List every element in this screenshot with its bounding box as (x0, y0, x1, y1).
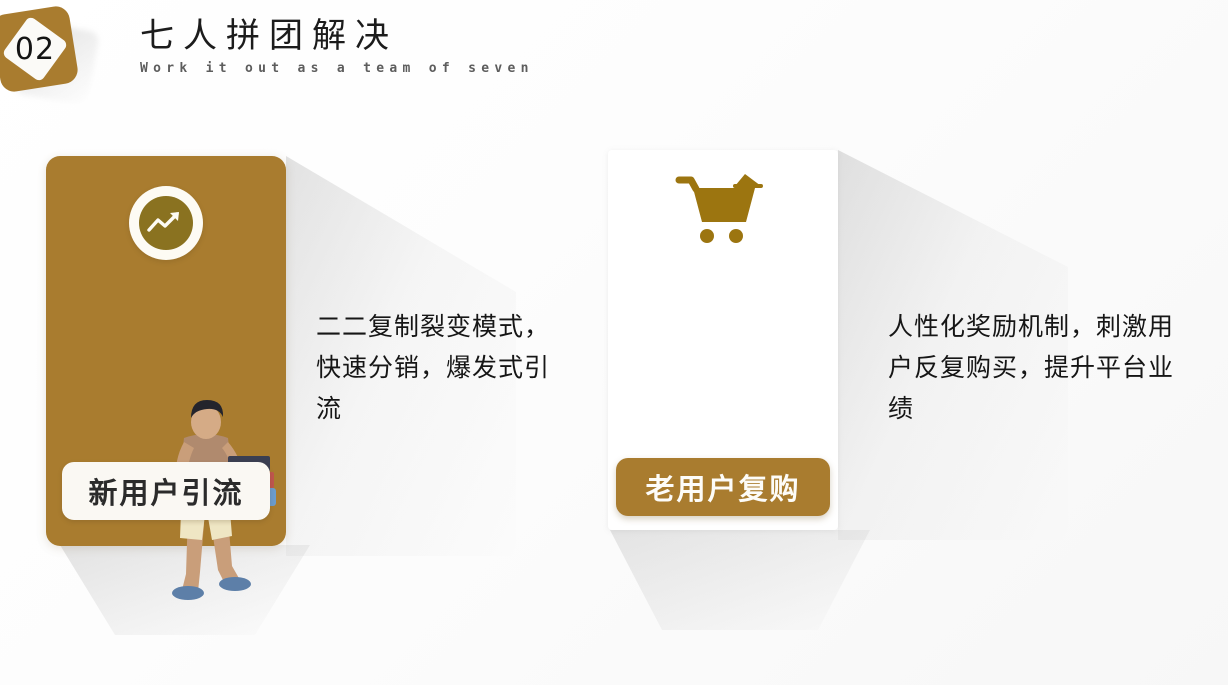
growth-arrow-icon (146, 208, 186, 238)
card-returning-user[interactable]: 老用户复购 (608, 150, 838, 530)
growth-arrow-icon-inner (139, 196, 193, 250)
card-new-user-description: 二二复制裂变模式，快速分销，爆发式引流 (316, 306, 572, 429)
card-returning-user-label[interactable]: 老用户复购 (616, 458, 830, 516)
title-block: 七人拼团解决 Work it out as a team of seven (140, 14, 534, 76)
page-title: 七人拼团解决 (140, 14, 534, 58)
shopping-cart-icon (673, 170, 773, 256)
slide-header: 02 七人拼团解决 Work it out as a team of seven (0, 0, 1228, 120)
badge-diamond-shape: 02 (0, 4, 80, 93)
page-subtitle: Work it out as a team of seven (140, 61, 534, 76)
card-returning-user-label-text: 老用户复购 (645, 466, 800, 508)
badge-number-text: 02 (0, 10, 74, 88)
card-two-bottom-shadow (610, 530, 870, 630)
slide-canvas: 02 七人拼团解决 Work it out as a team of seven (0, 0, 1228, 685)
card-returning-user-description: 人性化奖励机制，刺激用户反复购买，提升平台业绩 (888, 306, 1188, 429)
section-number-badge: 02 (0, 4, 104, 102)
card-new-user-label[interactable]: 新用户引流 (62, 462, 270, 520)
card-new-user-label-text: 新用户引流 (88, 470, 243, 512)
growth-arrow-circle-icon (129, 186, 203, 260)
card-new-user[interactable]: 新用户引流 (46, 156, 286, 546)
